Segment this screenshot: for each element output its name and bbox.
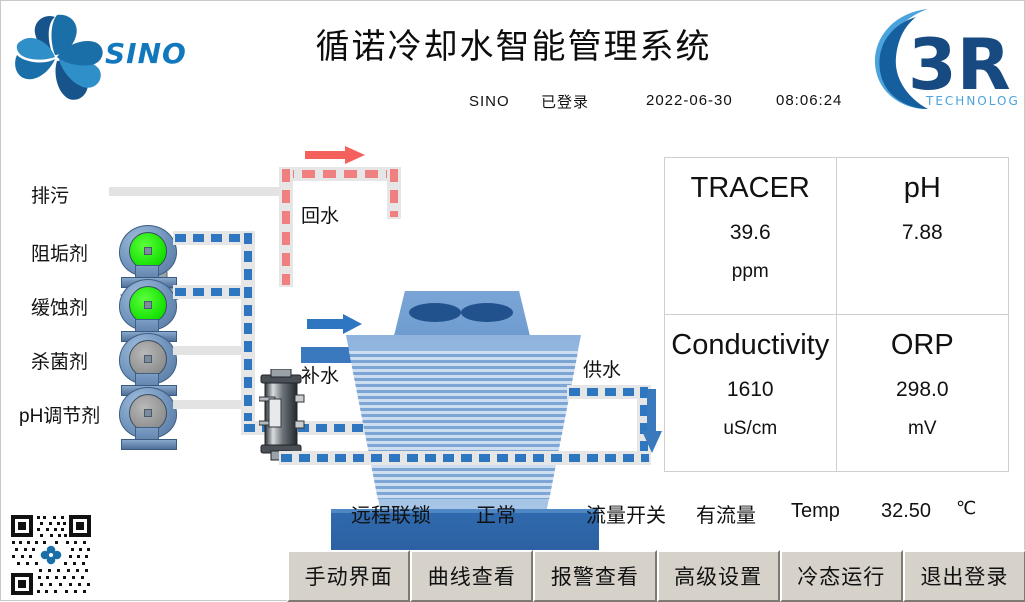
logout-button[interactable]: 退出登录 [903, 550, 1025, 602]
cooling-tower [331, 291, 631, 586]
return-water-pipe-left [282, 169, 290, 285]
status-row: 远程联锁 正常 流量开关 有流量 Temp 32.50 ℃ [351, 497, 1025, 527]
manual-interface-button[interactable]: 手动界面 [287, 550, 410, 602]
system-time: 08:06:24 [776, 92, 842, 109]
return-flow-arrow-icon [305, 145, 365, 165]
label-return-water: 回水 [301, 201, 339, 228]
readout-name: TRACER [691, 172, 810, 205]
readout-name: ORP [891, 329, 954, 362]
readout-name: pH [904, 172, 941, 205]
dosing-pump-ph-adjuster[interactable] [119, 387, 181, 449]
fan-blade-right-icon [461, 303, 513, 322]
system-date: 2022-06-30 [646, 92, 733, 109]
temperature-unit: ℃ [956, 498, 976, 519]
cold-start-button[interactable]: 冷态运行 [780, 550, 903, 602]
measurement-panel: TRACER 39.6 ppm pH 7.88 Conductivity 161… [664, 157, 1009, 472]
tower-fill-media [346, 351, 581, 499]
label-scale-inhibitor: 阻垢剂 [31, 239, 88, 266]
temperature-label: Temp [791, 500, 840, 523]
readout-value: 7.88 [902, 221, 943, 245]
pump-base [121, 439, 177, 450]
pump-shaft-icon [144, 247, 152, 255]
dose-header-line [244, 233, 252, 429]
fan-housing [394, 291, 530, 336]
readout-value: 1610 [727, 378, 774, 402]
dose-line-1 [175, 234, 251, 242]
fan-blade-left-icon [409, 303, 461, 322]
label-ph-adjuster: pH调节剂 [19, 401, 100, 428]
hmi-screen: SINO 3R TECHNOLOGY 循诺冷却水智能管理系统 SINO 已登录 … [0, 0, 1025, 601]
login-state: 已登录 [541, 91, 589, 112]
dosing-pump-corrosion-inhibitor[interactable] [119, 279, 181, 341]
readout-orp[interactable]: ORP 298.0 mV [837, 315, 1009, 472]
qr-code[interactable] [9, 513, 93, 597]
readout-unit: ppm [732, 261, 769, 283]
blowdown-pipe [109, 187, 289, 196]
svg-text:TECHNOLOGY: TECHNOLOGY [925, 94, 1018, 108]
label-blowdown: 排污 [31, 181, 69, 208]
flow-switch-value: 有流量 [696, 499, 756, 528]
return-water-pipe-right [390, 169, 398, 217]
session-bar: SINO 已登录 2022-06-30 08:06:24 [431, 91, 911, 115]
trend-curve-button[interactable]: 曲线查看 [410, 550, 533, 602]
supply-flow-arrow-icon [641, 389, 663, 455]
readout-unit: mV [908, 418, 937, 440]
label-corrosion-inhibitor: 缓蚀剂 [31, 293, 88, 320]
label-biocide: 杀菌剂 [31, 347, 88, 374]
dosing-pump-scale-inhibitor[interactable] [119, 225, 181, 287]
dose-line-2 [175, 288, 251, 296]
page-title: 循诺冷却水智能管理系统 [1, 19, 1025, 68]
supply-water-pipe-bottom [281, 454, 649, 462]
process-diagram: 排污 阻垢剂 缓蚀剂 杀菌剂 pH调节剂 回水 补水 供水 [1, 121, 661, 481]
pump-shaft-icon [144, 355, 152, 363]
remote-interlock-value: 正常 [476, 499, 516, 528]
pump-shaft-icon [144, 301, 152, 309]
readout-tracer[interactable]: TRACER 39.6 ppm [665, 158, 837, 315]
alarm-view-button[interactable]: 报警查看 [533, 550, 656, 602]
readout-unit: uS/cm [723, 418, 777, 440]
temperature-value: 32.50 [881, 500, 931, 523]
main-button-bar: 手动界面 曲线查看 报警查看 高级设置 冷态运行 退出登录 [287, 550, 1025, 602]
readout-ph[interactable]: pH 7.88 [837, 158, 1009, 315]
flow-switch-label: 流量开关 [586, 499, 666, 528]
user-name: SINO [469, 93, 510, 110]
pump-shaft-icon [144, 409, 152, 417]
water-analyzer-icon[interactable] [259, 369, 305, 461]
readout-name: Conductivity [671, 329, 829, 362]
readout-value: 298.0 [896, 378, 949, 402]
dosing-pump-biocide[interactable] [119, 333, 181, 395]
advanced-settings-button[interactable]: 高级设置 [657, 550, 780, 602]
return-water-pipe-top [281, 170, 399, 178]
readout-value: 39.6 [730, 221, 771, 245]
readout-conductivity[interactable]: Conductivity 1610 uS/cm [665, 315, 837, 472]
remote-interlock-label: 远程联锁 [351, 499, 431, 528]
qr-code-icon [9, 513, 93, 597]
